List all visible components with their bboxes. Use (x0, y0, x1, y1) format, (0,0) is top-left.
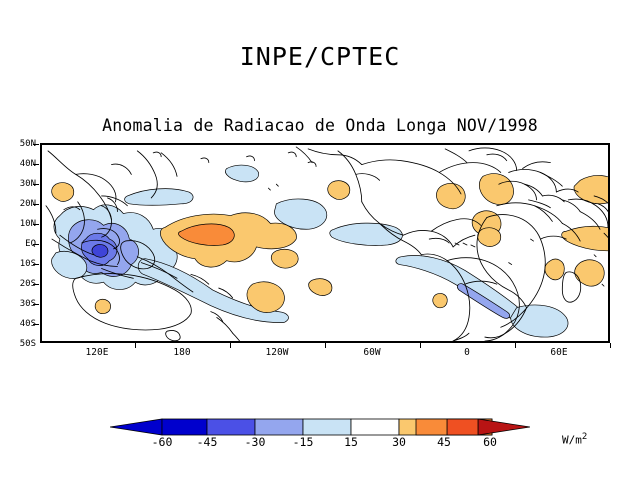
y-tick-label-10s: 10S (0, 260, 36, 269)
x-tick-label-120e: 120E (67, 348, 127, 358)
colorbar-tick--60: -60 (140, 436, 184, 448)
x-tick-label-0: 0 (437, 348, 497, 358)
chart-subtitle: Anomalia de Radiacao de Onda Longa NOV/1… (0, 116, 640, 135)
x-tick-mark (325, 343, 326, 348)
y-tick-label-40s: 40S (0, 320, 36, 329)
y-tick-mark (33, 284, 39, 285)
x-tick-label-180: 180 (152, 348, 212, 358)
page-title: INPE/CPTEC (0, 42, 640, 71)
x-tick-mark (230, 343, 231, 348)
y-tick-mark (33, 264, 39, 265)
y-tick-label-40n: 40N (0, 160, 36, 169)
colorbar-swatches (110, 417, 530, 437)
colorbar-band-lt-60 (162, 419, 207, 435)
colorbar-tick--45: -45 (185, 436, 229, 448)
units-text: W/m (562, 434, 582, 447)
colorbar-tick-60: 60 (468, 436, 512, 448)
y-tick-mark (33, 244, 39, 245)
olr-anomaly-map (42, 145, 608, 341)
colorbar-over-arrow (478, 419, 530, 435)
x-tick-mark (135, 343, 136, 348)
colorbar-band-30-15 (303, 419, 351, 435)
y-tick-label-20s: 20S (0, 280, 36, 289)
y-tick-label-50n: 50N (0, 140, 36, 149)
y-tick-label-30s: 30S (0, 300, 36, 309)
y-tick-label-10n: 10N (0, 220, 36, 229)
x-tick-mark (610, 343, 611, 348)
colorbar-band-neutral (351, 419, 399, 435)
colorbar[interactable] (110, 417, 530, 437)
map-plot-area[interactable] (40, 143, 610, 343)
y-tick-label-50s: 50S (0, 340, 36, 349)
colorbar-tick-45: 45 (422, 436, 466, 448)
y-tick-mark (33, 304, 39, 305)
y-tick-mark (33, 324, 39, 325)
y-tick-label-30n: 30N (0, 180, 36, 189)
colorbar-tick--30: -30 (233, 436, 277, 448)
x-tick-mark (515, 343, 516, 348)
colorbar-tick-15: 15 (329, 436, 373, 448)
colorbar-tick--15: -15 (281, 436, 325, 448)
contour-positive-15-australia-interior (95, 299, 110, 313)
colorbar-band-45-30 (255, 419, 303, 435)
x-tick-label-120w: 120W (247, 348, 307, 358)
y-tick-mark (33, 144, 39, 145)
contour-positive-15-brazil (433, 293, 447, 307)
colorbar-band-30-45c (416, 419, 447, 435)
x-tick-mark (420, 343, 421, 348)
y-tick-label-20n: 20N (0, 200, 36, 209)
y-tick-label-eq: EQ (0, 240, 36, 249)
y-tick-mark (33, 184, 39, 185)
colorbar-band-45-60 (447, 419, 478, 435)
units-exponent: 2 (582, 432, 587, 442)
colorbar-under-arrow (110, 419, 162, 435)
y-tick-mark (33, 164, 39, 165)
contour-negative-60-maritime (92, 245, 108, 258)
units-label: W/m2 (562, 432, 587, 447)
x-tick-label-60e: 60E (529, 348, 589, 358)
colorbar-band-60-45 (207, 419, 255, 435)
colorbar-tick-30: 30 (377, 436, 421, 448)
y-tick-mark (33, 224, 39, 225)
x-tick-label-60w: 60W (342, 348, 402, 358)
y-tick-mark (33, 204, 39, 205)
